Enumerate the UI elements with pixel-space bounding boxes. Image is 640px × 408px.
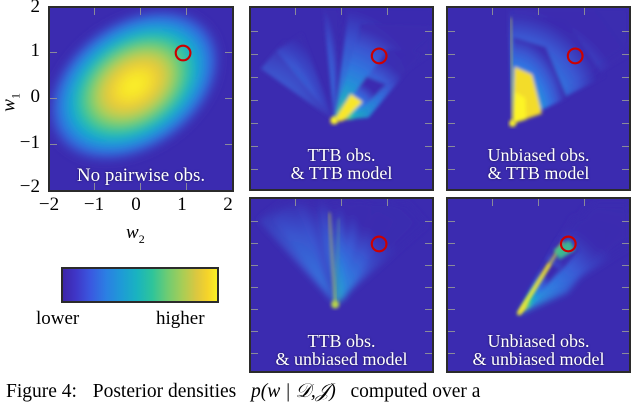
x-axis-label: w2 (126, 222, 145, 247)
panel-unbiased-obs-ttb-model[interactable]: Unbiased obs. & TTB model (446, 6, 631, 191)
x-tick-label-0: 0 (122, 194, 150, 216)
marker-overlay-5 (448, 199, 629, 371)
colorbar-high-label: higher (156, 308, 205, 330)
y-axis-label-sub: 1 (8, 93, 22, 99)
panel-ttb-obs-unbiased-model[interactable]: TTB obs. & unbiased model (249, 197, 434, 373)
panel-ttb-obs-ttb-model[interactable]: TTB obs. & TTB model (249, 6, 434, 191)
figure-caption: Figure 4: Posterior densities p(w | 𝒟,𝒥)… (6, 380, 634, 403)
figure-caption-suffix: computed over a (351, 381, 481, 402)
y-axis-label: w1 (0, 79, 23, 125)
x-tick-label-neg1: −1 (75, 194, 113, 216)
marker-overlay-1 (50, 8, 232, 190)
x-tick-label-1: 1 (168, 194, 196, 216)
marker-overlay-2 (251, 8, 432, 189)
colorbar-low-label: lower (36, 308, 79, 330)
figure-caption-prefix: Figure 4: (6, 381, 77, 402)
x-tick-label-neg2: −2 (30, 194, 68, 216)
panel-no-pairwise-obs[interactable]: No pairwise obs. (48, 6, 234, 192)
panel-unbiased-obs-unbiased-model[interactable]: Unbiased obs. & unbiased model (446, 197, 631, 373)
figure-caption-math: p(w | 𝒟,𝒥) (251, 381, 336, 402)
y-tick-label-2: 2 (8, 0, 40, 18)
figure-container: No pairwise obs. 2 1 0 −1 −2 −2 −1 0 1 2… (0, 0, 640, 408)
y-tick-label-neg1: −1 (2, 132, 40, 154)
y-tick-label-1: 1 (8, 40, 40, 62)
colorbar (61, 267, 219, 303)
marker-overlay-4 (251, 199, 432, 371)
x-axis-label-sub: 2 (139, 232, 145, 246)
figure-caption-text: Posterior densities (93, 381, 237, 402)
y-axis-label-var: w (0, 99, 20, 112)
x-tick-label-2: 2 (214, 194, 242, 216)
x-axis-label-var: w (126, 222, 139, 243)
marker-overlay-3 (448, 8, 629, 189)
